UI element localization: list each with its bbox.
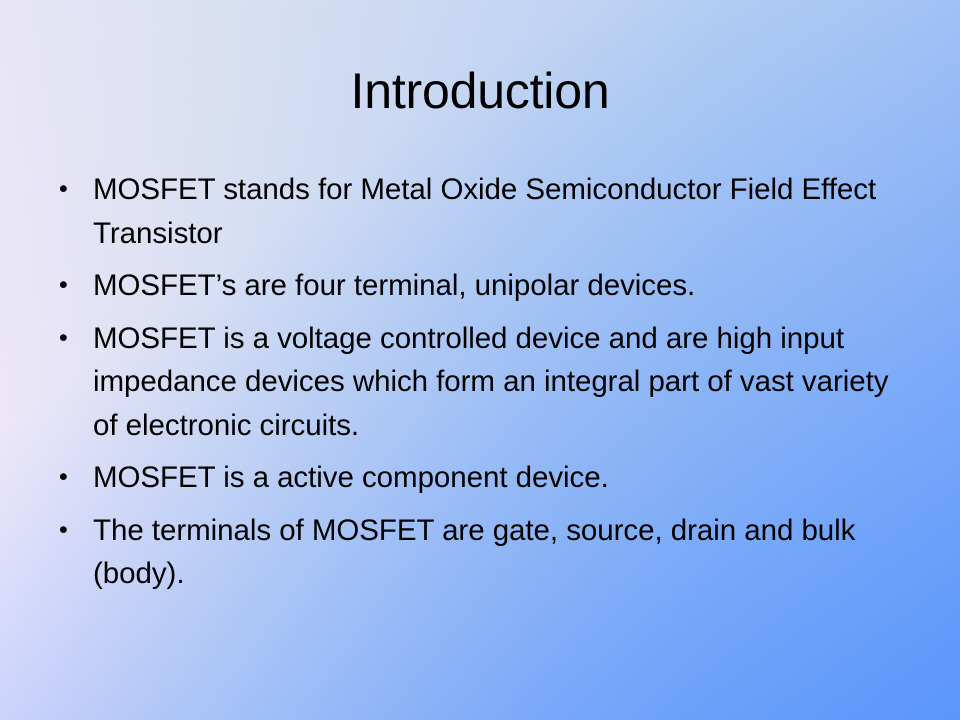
list-item-text: MOSFET is a active component device. [93, 456, 914, 500]
list-item: • The terminals of MOSFET are gate, sour… [48, 509, 914, 596]
bullet-point-icon: • [59, 456, 81, 500]
bullet-point-icon: • [59, 168, 81, 212]
list-item: • MOSFET is a active component device. [48, 456, 914, 500]
bullet-point-icon: • [59, 509, 81, 553]
presentation-slide: Introduction • MOSFET stands for Metal O… [0, 0, 960, 720]
bullet-list: • MOSFET stands for Metal Oxide Semicond… [48, 168, 914, 596]
list-item-text: The terminals of MOSFET are gate, source… [93, 509, 914, 596]
page-title: Introduction [0, 58, 960, 124]
list-item-text: MOSFET is a voltage controlled device an… [93, 317, 914, 448]
list-item: • MOSFET is a voltage controlled device … [48, 317, 914, 448]
list-item: • MOSFET stands for Metal Oxide Semicond… [48, 168, 914, 255]
list-item: • MOSFET’s are four terminal, unipolar d… [48, 264, 914, 308]
list-item-text: MOSFET’s are four terminal, unipolar dev… [93, 264, 914, 308]
list-item-text: MOSFET stands for Metal Oxide Semiconduc… [93, 168, 914, 255]
bullet-point-icon: • [59, 264, 81, 308]
bullet-point-icon: • [59, 317, 81, 361]
